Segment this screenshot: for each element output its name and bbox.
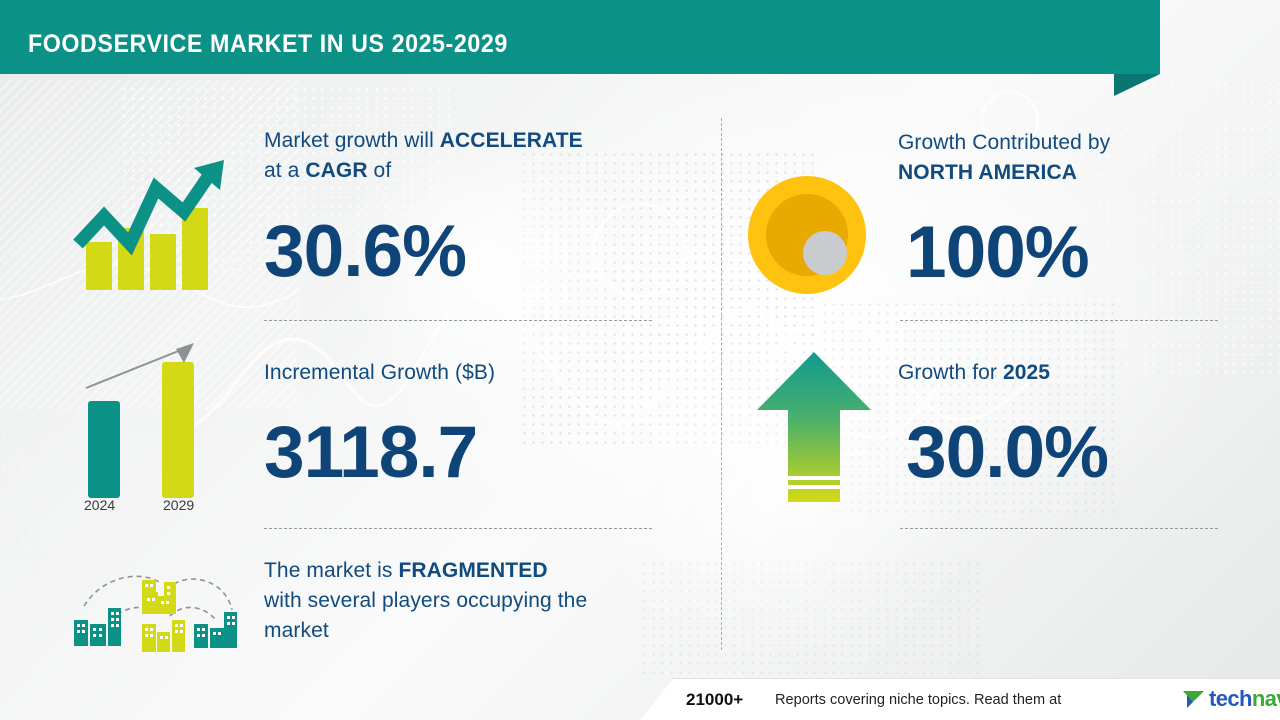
- yearly-growth-lead: Growth for 2025: [898, 358, 1050, 388]
- region-contribution-value: 100%: [906, 216, 1089, 289]
- infographic-page: FOODSERVICE MARKET IN US 2025-2029 Marke…: [0, 0, 1280, 720]
- cagr-lead-text: Market growth will ACCELERATE at a CAGR …: [264, 126, 684, 186]
- reports-count: 21000+: [686, 690, 743, 710]
- cagr-lead-line2-plain-a: at a: [264, 159, 305, 182]
- cagr-lead-line1-plain: Market growth will: [264, 129, 440, 152]
- market-structure-line2: with several players occupying the: [264, 589, 587, 612]
- header-fold-corner-icon: [1114, 74, 1160, 96]
- city-buildings-network-icon: [66, 558, 246, 658]
- up-arrow-icon: [757, 352, 872, 502]
- cagr-lead-line2-plain-b: of: [368, 159, 392, 182]
- section-divider: [900, 528, 1218, 529]
- market-structure-line3: market: [264, 619, 329, 642]
- technavio-arrow-mark-icon: [1183, 690, 1205, 714]
- bar-label-2029: 2029: [163, 497, 194, 513]
- market-structure-text: The market is FRAGMENTED with several pl…: [264, 556, 694, 646]
- two-bar-comparison-icon: [76, 335, 236, 515]
- incremental-growth-value: 3118.7: [264, 416, 477, 489]
- technavio-wordmark: technavio: [1209, 687, 1280, 711]
- yearly-growth-lead-bold: 2025: [1003, 361, 1050, 384]
- bar-label-2024: 2024: [84, 497, 115, 513]
- region-contribution-lead: Growth Contributed by NORTH AMERICA: [898, 128, 1228, 188]
- incremental-growth-label: Incremental Growth ($B): [264, 358, 495, 388]
- cagr-lead-line1-bold: ACCELERATE: [440, 129, 583, 152]
- cagr-value: 30.6%: [264, 215, 466, 288]
- donut-circle-icon: [748, 176, 866, 294]
- footer-top-border: [672, 678, 1280, 679]
- footer-text: Reports covering niche topics. Read them…: [775, 691, 1061, 708]
- donut-center-circle: [803, 231, 847, 275]
- region-lead-line1: Growth Contributed by: [898, 131, 1110, 154]
- growth-bar-chart-arrow-icon: [72, 150, 232, 295]
- section-divider: [264, 528, 652, 529]
- yearly-growth-lead-plain: Growth for: [898, 361, 1003, 384]
- section-divider: [900, 320, 1218, 321]
- donut-middle-ring: [766, 194, 848, 276]
- page-title: FOODSERVICE MARKET IN US 2025-2029: [28, 30, 508, 59]
- market-structure-line1-plain: The market is: [264, 559, 398, 582]
- yearly-growth-value: 30.0%: [906, 416, 1108, 489]
- logo-text-navio: navio: [1252, 686, 1280, 711]
- market-structure-line1-bold: FRAGMENTED: [398, 559, 547, 582]
- section-divider: [264, 320, 652, 321]
- column-divider: [721, 118, 722, 650]
- region-lead-line2-bold: NORTH AMERICA: [898, 161, 1077, 184]
- cagr-lead-line2-bold: CAGR: [305, 159, 367, 182]
- logo-text-tech: tech: [1209, 686, 1252, 711]
